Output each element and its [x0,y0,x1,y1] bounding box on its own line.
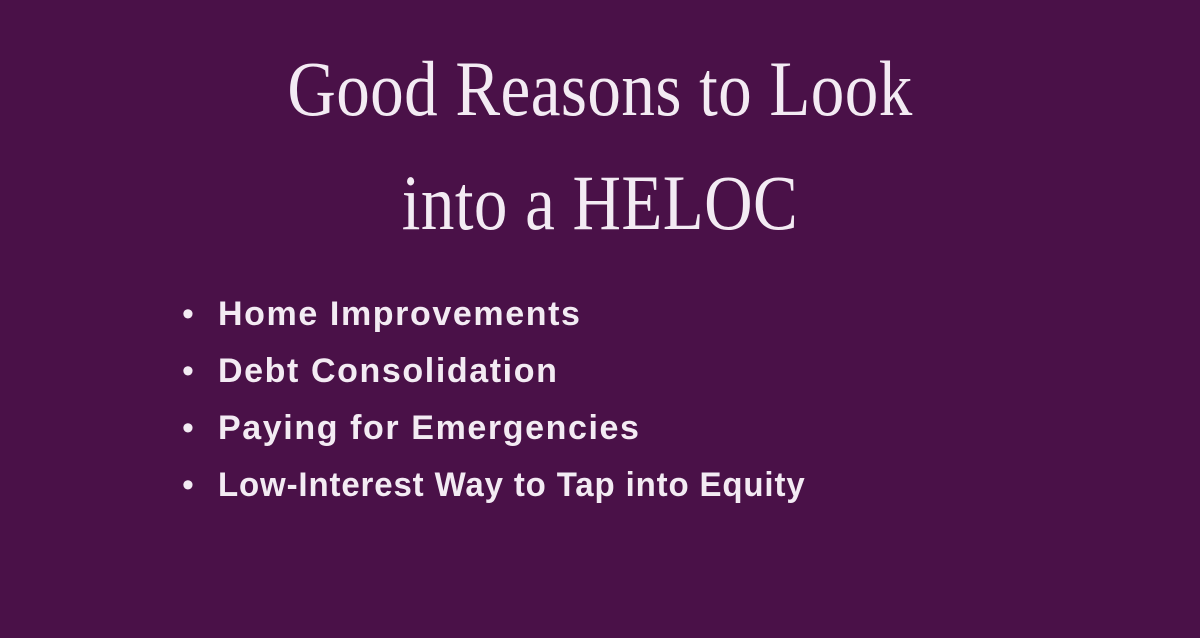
bullet-dot-icon: • [182,292,218,336]
bullet-dot-icon: • [182,463,218,507]
list-item-label: Low-Interest Way to Tap into Equity [218,463,806,507]
list-item-label: Home Improvements [218,292,582,336]
list-item-label: Paying for Emergencies [218,406,641,450]
bullet-dot-icon: • [182,349,218,393]
list-item: • Home Improvements [182,292,1182,349]
list-item: • Paying for Emergencies [182,406,1182,463]
title-line-1: Good Reasons to Look [84,32,1116,146]
page-title: Good Reasons to Look into a HELOC [0,32,1200,260]
slide-canvas: Good Reasons to Look into a HELOC • Home… [0,0,1200,638]
list-item: • Debt Consolidation [182,349,1182,406]
list-item: • Low-Interest Way to Tap into Equity [182,463,1182,520]
title-line-2: into a HELOC [84,146,1116,260]
bullet-dot-icon: • [182,406,218,450]
list-item-label: Debt Consolidation [218,349,558,393]
reasons-list: • Home Improvements • Debt Consolidation… [182,292,1182,520]
